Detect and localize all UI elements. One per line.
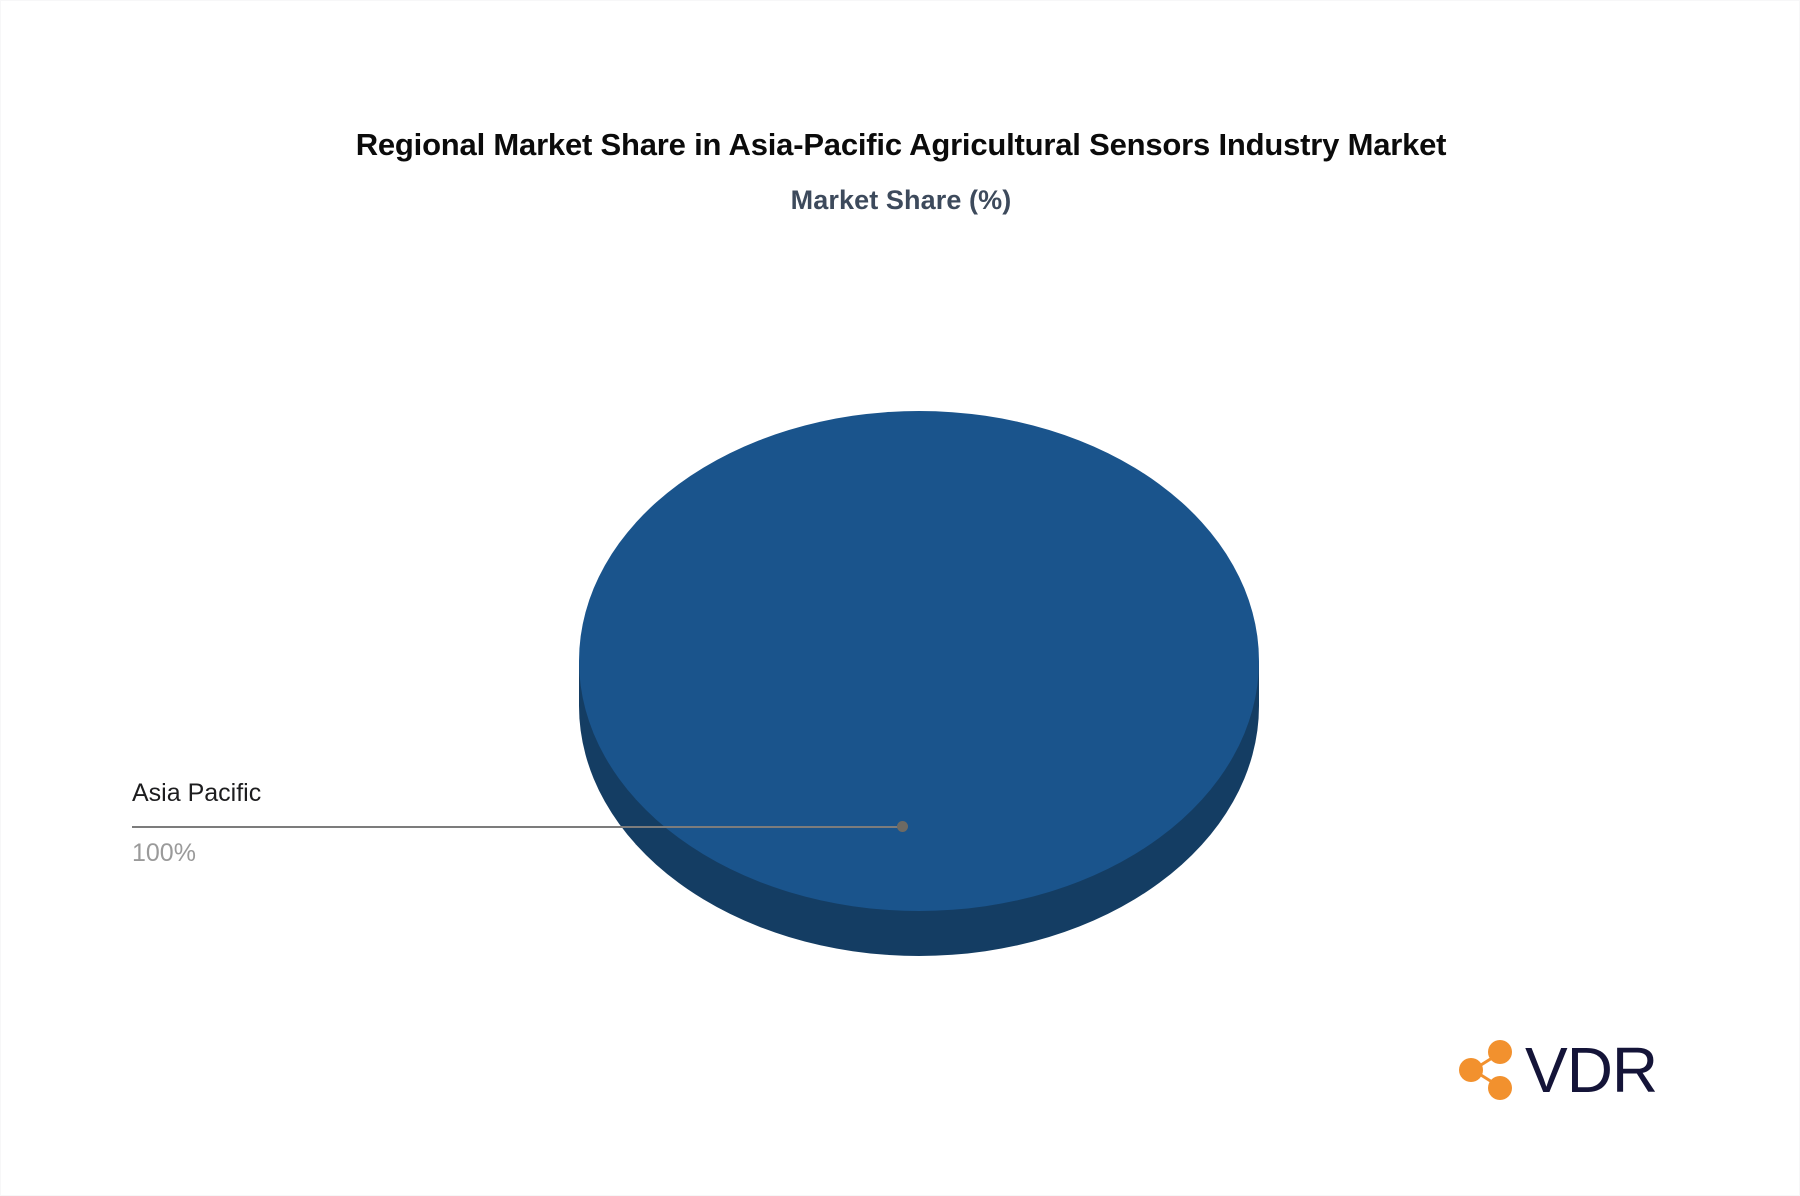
pie-chart bbox=[1, 1, 1800, 1196]
slice-label-value: 100% bbox=[132, 839, 196, 868]
slice-label-name: Asia Pacific bbox=[132, 779, 261, 808]
pie-chart-svg bbox=[1, 1, 1800, 1196]
pie-slice-asia-pacific[interactable] bbox=[579, 411, 1259, 911]
share-nodes-icon bbox=[1453, 1037, 1519, 1103]
chart-canvas: Regional Market Share in Asia-Pacific Ag… bbox=[0, 0, 1800, 1196]
leader-dot bbox=[897, 821, 908, 832]
leader-line bbox=[132, 826, 903, 828]
brand-logo: VDR bbox=[1453, 1037, 1657, 1103]
brand-logo-text: VDR bbox=[1525, 1038, 1657, 1102]
